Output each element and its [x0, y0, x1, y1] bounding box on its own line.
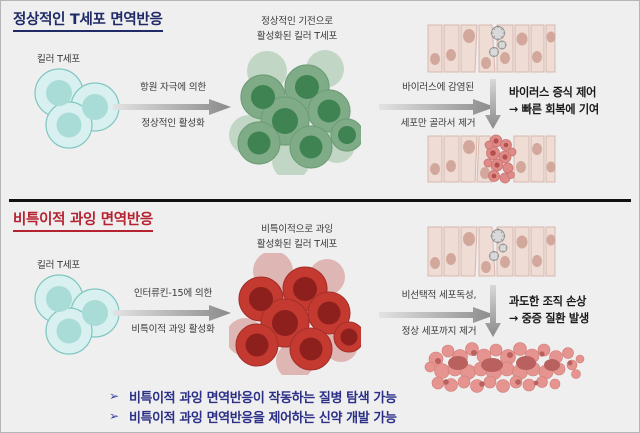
conclusion-line2-normal: → 빠른 회복에 기여 [509, 102, 599, 118]
conclusion-line1-normal: 바이러스 증식 제어 [509, 85, 596, 101]
conclusion-line1-abnormal: 과도한 조직 손상 [509, 294, 586, 310]
epithelium-infected-abnormal [426, 223, 556, 280]
panel-title-normal: 정상적인 T세포 면역반응 [13, 13, 163, 32]
resting-tcell-cluster-normal [29, 67, 125, 149]
panel-divider [9, 199, 631, 202]
killing-arrow-label-line2-normal: 세포만 골라서 제거 [373, 117, 503, 131]
resting-tcell-cluster-abnormal [29, 273, 125, 355]
resting-cells-label-abnormal: 킬러 T세포 [37, 259, 80, 273]
activated-caption-line2-normal: 활성화된 킬러 T세포 [233, 30, 361, 44]
activated-caption-line1-abnormal: 비특이적으로 과잉 [233, 223, 361, 237]
activated-tcell-cluster-normal [229, 49, 361, 175]
activation-arrow-abnormal [113, 305, 231, 325]
activated-caption-line1-normal: 정상적인 기전으로 [233, 15, 361, 29]
activated-tcell-cluster-abnormal [229, 253, 361, 375]
figure-canvas: 정상적인 T세포 면역반응 킬러 T세포 항원 자극에 의한 [0, 0, 640, 433]
bullet-marker-icon: ➢ [109, 410, 120, 422]
bullet-text-1: 비특이적 과잉 면역반응이 작동하는 질병 탐색 가능 [129, 387, 397, 406]
activation-arrow-normal [113, 99, 231, 119]
activation-arrow-label-line2-abnormal: 비특이적 과잉 활성화 [105, 323, 241, 337]
resting-cells-label-normal: 킬러 T세포 [37, 53, 80, 67]
activation-arrow-label-line1-normal: 항원 자극에 의한 [109, 81, 237, 95]
epithelium-infected-normal [426, 21, 556, 76]
activation-arrow-label-line2-normal: 정상적인 활성화 [109, 117, 237, 131]
result-arrow-abnormal [485, 285, 501, 341]
activated-caption-line2-abnormal: 활성화된 킬러 T세포 [233, 238, 361, 252]
panel-title-abnormal: 비특이적 과잉 면역반응 [13, 213, 153, 232]
bullet-marker-icon: ➢ [109, 390, 120, 402]
bullet-item-2: ➢ 비특이적 과잉 면역반응을 제어하는 신약 개발 가능 [109, 406, 397, 426]
bullet-list: ➢ 비특이적 과잉 면역반응이 작동하는 질병 탐색 가능 ➢ 비특이적 과잉 … [109, 386, 397, 426]
bullet-text-2: 비특이적 과잉 면역반응을 제어하는 신약 개발 가능 [129, 407, 397, 426]
bullet-item-1: ➢ 비특이적 과잉 면역반응이 작동하는 질병 탐색 가능 [109, 386, 397, 406]
tissue-destroyed-abnormal [424, 341, 588, 393]
result-arrow-normal [485, 79, 501, 133]
conclusion-line2-abnormal: → 중증 질환 발생 [509, 311, 589, 327]
killing-arrow-normal [379, 99, 495, 119]
killing-arrow-abnormal [379, 307, 495, 327]
epithelium-partial-damage-normal [426, 133, 556, 185]
killing-arrow-label-line1-normal: 바이러스에 감염된 [373, 81, 503, 95]
activation-arrow-label-line1-abnormal: 인터류킨-15에 의한 [105, 287, 241, 301]
